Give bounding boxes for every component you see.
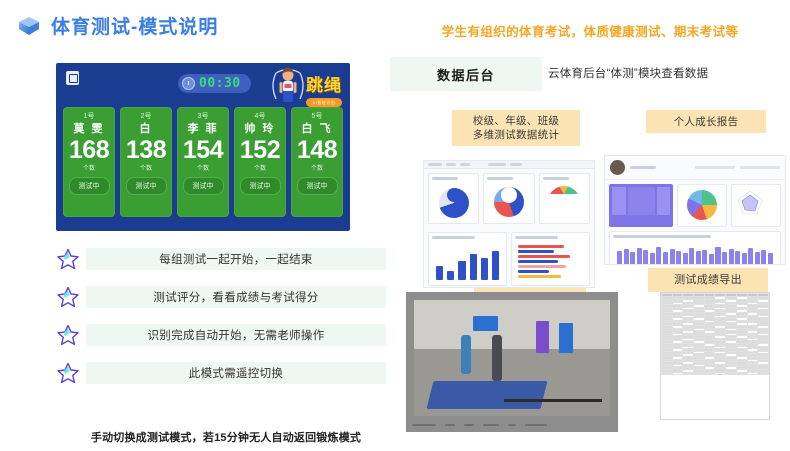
topbar-pill	[446, 163, 456, 166]
star-icon	[56, 285, 80, 309]
bar	[768, 253, 773, 265]
control-item[interactable]	[464, 424, 474, 427]
backend-label: 数据后台	[437, 65, 495, 84]
bar	[656, 247, 661, 265]
score-unit: 个数	[140, 163, 152, 172]
tag-personal-growth-report: 个人成长报告	[646, 110, 766, 133]
bar	[650, 253, 655, 265]
bar	[458, 261, 465, 280]
student-name: 白	[140, 122, 153, 136]
hbar	[518, 265, 566, 268]
device-icon	[66, 71, 79, 85]
bar	[643, 250, 648, 265]
lane-number: 5号	[312, 111, 323, 121]
score-value: 148	[297, 136, 337, 164]
hbar	[518, 255, 570, 258]
score-unit: 个数	[197, 163, 209, 172]
filter-placeholder	[695, 166, 735, 169]
daily-bar-chart	[613, 241, 777, 265]
countdown-timer: 00:30	[178, 74, 251, 93]
sport-badge: AI智能识别	[306, 98, 342, 107]
scoreboard-card: 5号 白 飞 148 个数 测试中	[291, 107, 343, 217]
bar-chart-card	[428, 232, 507, 286]
bar	[755, 252, 760, 265]
progress-bar	[504, 399, 602, 402]
bar	[492, 251, 499, 280]
bar	[447, 271, 454, 280]
page-title: 体育测试-模式说明	[51, 12, 218, 39]
topbar-pill	[510, 163, 522, 166]
score-value: 138	[126, 136, 166, 164]
gauge-chart	[548, 186, 580, 202]
bar	[761, 250, 766, 265]
star-icon	[56, 247, 80, 271]
dashboard-row-charts	[424, 228, 594, 288]
card-caption	[432, 177, 458, 180]
bar	[742, 253, 747, 265]
footnote: 手动切换成测试模式，若15分钟无人自动返回锻炼模式	[56, 429, 396, 445]
status-badge: 测试中	[240, 177, 281, 195]
student-figure	[461, 335, 471, 374]
dashboard-row-kpi	[424, 169, 594, 228]
student-name: 白 飞	[301, 122, 332, 136]
display-screen	[473, 316, 498, 331]
summary-grid	[612, 187, 670, 215]
hbar	[518, 270, 549, 273]
bar	[670, 249, 675, 265]
scoreboard-card-list: 1号 莫 雯 168 个数 测试中 2号 白 138 个数 测试中 3号 李 菲…	[56, 107, 350, 217]
bar	[663, 252, 668, 265]
bar	[735, 251, 740, 265]
export-table	[661, 293, 769, 375]
bar	[617, 251, 622, 265]
score-unit: 个数	[254, 163, 266, 172]
dashboard-topbar	[424, 161, 594, 169]
feature-label: 识别完成自动开始，无需老师操作	[86, 324, 386, 346]
lane-number: 1号	[84, 111, 95, 121]
jump-mat	[426, 381, 547, 409]
donut-chart	[439, 188, 469, 218]
control-item[interactable]	[412, 424, 436, 427]
student-name: 莫 雯	[73, 122, 104, 136]
hbar	[518, 260, 558, 263]
kpi-card	[428, 173, 479, 224]
bar	[470, 254, 477, 280]
bar	[715, 247, 720, 265]
score-unit: 个数	[311, 163, 323, 172]
tag-line-2: 多维测试数据统计	[473, 128, 559, 142]
video-playback-screenshot	[406, 292, 618, 432]
control-item[interactable]	[445, 424, 455, 427]
summary-card	[609, 184, 673, 227]
feature-label: 测试评分，看看成绩与考试得分	[86, 286, 386, 308]
lane-number: 4号	[255, 111, 266, 121]
summary-cell	[612, 187, 626, 215]
bar	[436, 266, 443, 280]
control-item[interactable]	[525, 424, 547, 427]
scoreboard-card: 1号 莫 雯 168 个数 测试中	[63, 107, 115, 217]
sport-label-group: 跳绳 AI智能识别	[306, 71, 342, 107]
display-kiosk	[559, 323, 573, 353]
backend-description: 云体育后台“体测”模块查看数据	[548, 65, 708, 81]
radar-card	[731, 184, 781, 227]
bar	[481, 258, 488, 280]
clock-icon	[182, 77, 195, 90]
kpi-card	[539, 173, 590, 224]
card-caption	[487, 177, 513, 180]
status-badge: 测试中	[69, 177, 110, 195]
slide-header: 体育测试-模式说明	[16, 12, 218, 39]
tag-multi-dimension-stats: 校级、年级、班级 多维测试数据统计	[452, 110, 580, 146]
stats-dashboard-screenshot	[423, 160, 595, 288]
feature-item: 每组测试一起开始，一起结束	[56, 246, 386, 272]
star-icon	[56, 361, 80, 385]
bar	[709, 254, 714, 265]
status-badge: 测试中	[183, 177, 224, 195]
hbar	[518, 250, 554, 253]
kpi-card	[483, 173, 534, 224]
feature-item: 此模式需遥控切换	[56, 360, 386, 386]
star-icon	[56, 323, 80, 347]
status-badge: 测试中	[126, 177, 167, 195]
bar	[637, 248, 642, 265]
student-name: 帅 玲	[244, 122, 275, 136]
hbar	[518, 275, 561, 278]
bar-chart	[432, 242, 503, 282]
summary-cell	[628, 187, 655, 215]
hbar	[518, 245, 564, 248]
donut-card	[677, 184, 727, 227]
donut-chart	[494, 187, 524, 217]
feature-list: 每组测试一起开始，一起结束 测试评分，看看成绩与考试得分 识别完成自动开始，无需…	[56, 246, 386, 398]
tag-line-1: 测试成绩导出	[674, 273, 742, 287]
scoreboard-card: 2号 白 138 个数 测试中	[120, 107, 172, 217]
tag-test-score-export: 测试成绩导出	[648, 268, 768, 292]
feature-item: 识别完成自动开始，无需老师操作	[56, 322, 386, 348]
bar	[696, 251, 701, 265]
radar-chart	[735, 188, 765, 218]
bar	[689, 248, 694, 265]
card-caption	[613, 235, 711, 238]
score-export-table-screenshot	[660, 292, 770, 420]
score-unit: 个数	[83, 163, 95, 172]
sport-name: 跳绳	[306, 71, 342, 96]
right-panel-headline: 学生有组织的体育考试，体质健康测试、期末考试等	[396, 21, 784, 40]
scoreboard-panel: 00:30 跳绳 AI智能识别	[56, 63, 350, 231]
lane-number: 2号	[141, 111, 152, 121]
summary-cell	[657, 187, 671, 215]
avatar	[610, 160, 625, 175]
profile-name-placeholder	[630, 166, 656, 169]
bar	[676, 251, 681, 265]
feature-label: 此模式需遥控切换	[86, 362, 386, 384]
video-frame	[414, 300, 610, 416]
personal-report-screenshot	[604, 155, 786, 265]
gym-wall	[414, 300, 610, 349]
bar	[722, 252, 727, 265]
report-profile-header	[605, 156, 785, 180]
score-value: 168	[69, 136, 109, 164]
status-badge: 测试中	[297, 177, 338, 195]
filter-placeholder	[740, 166, 780, 169]
cube-icon	[16, 13, 42, 39]
control-item[interactable]	[508, 424, 516, 427]
jump-rope-athlete-icon	[266, 65, 310, 107]
topbar-pill	[488, 163, 506, 166]
student-name: 李 菲	[187, 122, 218, 136]
tag-line-1: 校级、年级、班级	[473, 114, 559, 128]
donut-chart	[687, 190, 717, 220]
hbar-chart-card	[511, 232, 590, 286]
table-row	[662, 372, 769, 375]
scoreboard-card: 3号 李 菲 154 个数 测试中	[177, 107, 229, 217]
scoreboard-card: 4号 帅 玲 152 个数 测试中	[234, 107, 286, 217]
slide-root: 体育测试-模式说明 00:30	[0, 0, 790, 451]
score-value: 152	[240, 136, 280, 164]
card-caption	[432, 236, 475, 239]
bar	[624, 249, 629, 265]
bar	[729, 249, 734, 265]
student-figure	[492, 335, 502, 381]
score-value: 154	[183, 136, 223, 164]
feature-item: 测试评分，看看成绩与考试得分	[56, 284, 386, 310]
bar	[748, 248, 753, 265]
topbar-pill	[460, 163, 470, 166]
bar	[630, 252, 635, 265]
scoreboard-topbar: 00:30 跳绳 AI智能识别	[56, 63, 350, 107]
card-caption	[543, 177, 569, 180]
lane-number: 3号	[198, 111, 209, 121]
timer-value: 00:30	[199, 76, 241, 91]
feature-label: 每组测试一起开始，一起结束	[86, 248, 386, 270]
report-row-top	[605, 180, 785, 231]
tag-line-1: 个人成长报告	[674, 115, 739, 129]
display-kiosk	[536, 321, 550, 353]
hbar-chart	[515, 242, 586, 281]
topbar-pill	[428, 163, 442, 166]
card-caption	[515, 236, 558, 239]
backend-label-box: 数据后台	[390, 57, 542, 91]
control-item[interactable]	[483, 424, 499, 427]
bar	[702, 250, 707, 265]
bar	[683, 253, 688, 265]
daily-bar-card	[609, 231, 781, 265]
video-controls	[406, 418, 618, 432]
